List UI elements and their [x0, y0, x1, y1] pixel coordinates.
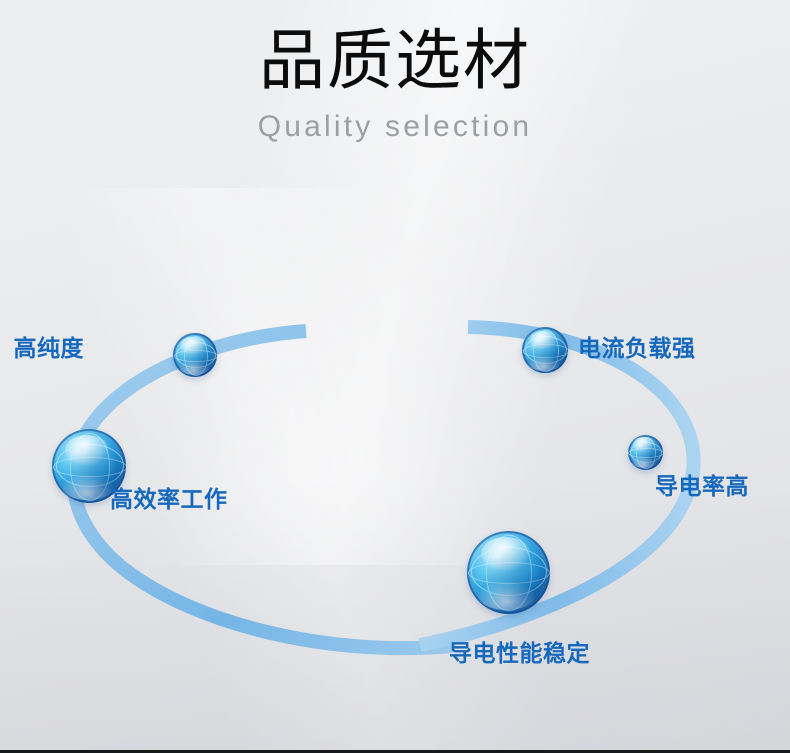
sphere-icon — [628, 435, 663, 470]
orbit-node-high-conductivity[interactable] — [628, 435, 663, 470]
orbit-arc-right — [420, 327, 694, 645]
orbit-label-high-efficiency-work: 高效率工作 — [110, 489, 228, 512]
sphere-icon — [522, 327, 568, 373]
orbit-node-stable-conductivity[interactable] — [467, 531, 550, 614]
page-subtitle: Quality selection — [0, 110, 790, 143]
orbit-label-high-conductivity: 导电率高 — [655, 476, 749, 499]
sphere-icon — [173, 333, 217, 377]
sphere-shade — [173, 333, 217, 377]
orbit-label-stable-conductivity: 导电性能稳定 — [449, 643, 590, 666]
orbit-label-high-purity: 高纯度 — [14, 338, 85, 361]
sphere-shade — [628, 435, 663, 470]
sphere-shade — [467, 531, 550, 614]
page-title: 品质选材 — [0, 26, 790, 96]
sphere-icon — [467, 531, 550, 614]
orbit-label-strong-current-load: 电流负载强 — [578, 338, 696, 361]
orbit-node-strong-current-load[interactable] — [522, 327, 568, 373]
sphere-shade — [522, 327, 568, 373]
poster-canvas: 品质选材 Quality selection — [0, 0, 790, 753]
heading-block: 品质选材 Quality selection — [0, 26, 790, 143]
orbit-node-high-purity[interactable] — [173, 333, 217, 377]
